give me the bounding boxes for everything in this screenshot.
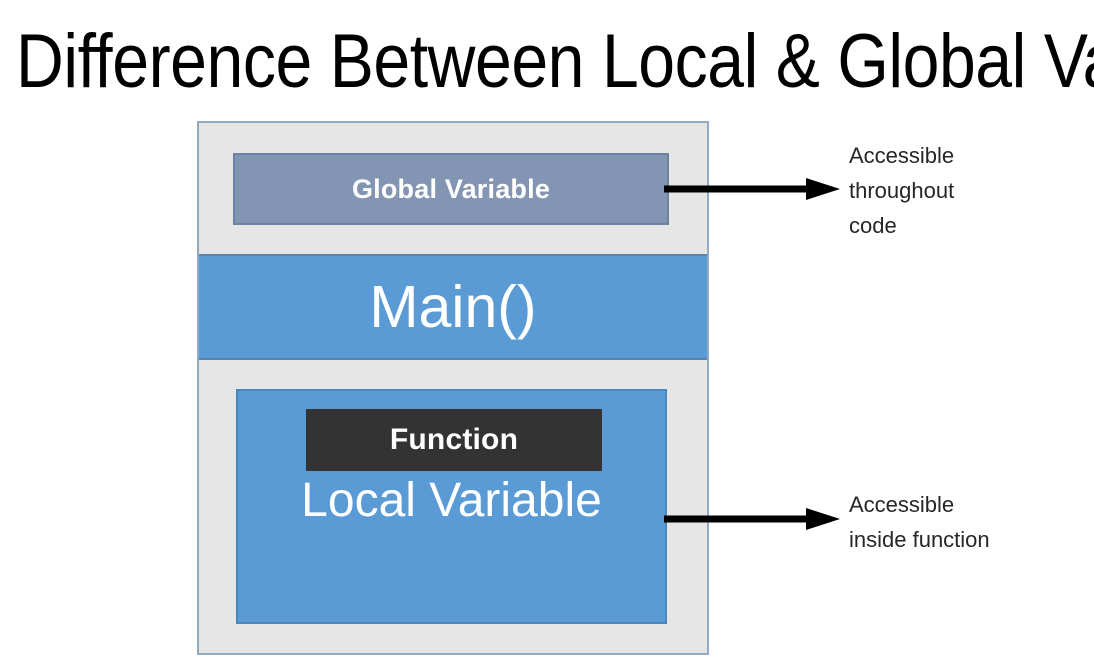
function-box: Function xyxy=(306,409,602,471)
scope-diagram-container: Global Variable Main() Function Local Va… xyxy=(197,121,709,655)
local-variable-annotation: Accessible inside function xyxy=(849,487,1069,557)
arrow-right-icon-global xyxy=(664,176,840,202)
global-variable-box: Global Variable xyxy=(233,153,669,225)
function-label: Function xyxy=(390,423,518,457)
page-title: Difference Between Local & Global Variab… xyxy=(16,22,947,102)
local-variable-box: Function Local Variable xyxy=(236,389,667,624)
main-function-band: Main() xyxy=(199,254,707,360)
local-variable-label: Local Variable xyxy=(238,475,665,528)
global-scope-region: Global Variable xyxy=(199,123,707,254)
main-function-label: Main() xyxy=(369,278,536,337)
function-scope-region: Function Local Variable xyxy=(199,360,707,653)
global-variable-label: Global Variable xyxy=(352,174,550,205)
global-variable-annotation: Accessible throughout code xyxy=(849,138,1069,243)
arrow-right-icon-local xyxy=(664,506,840,532)
